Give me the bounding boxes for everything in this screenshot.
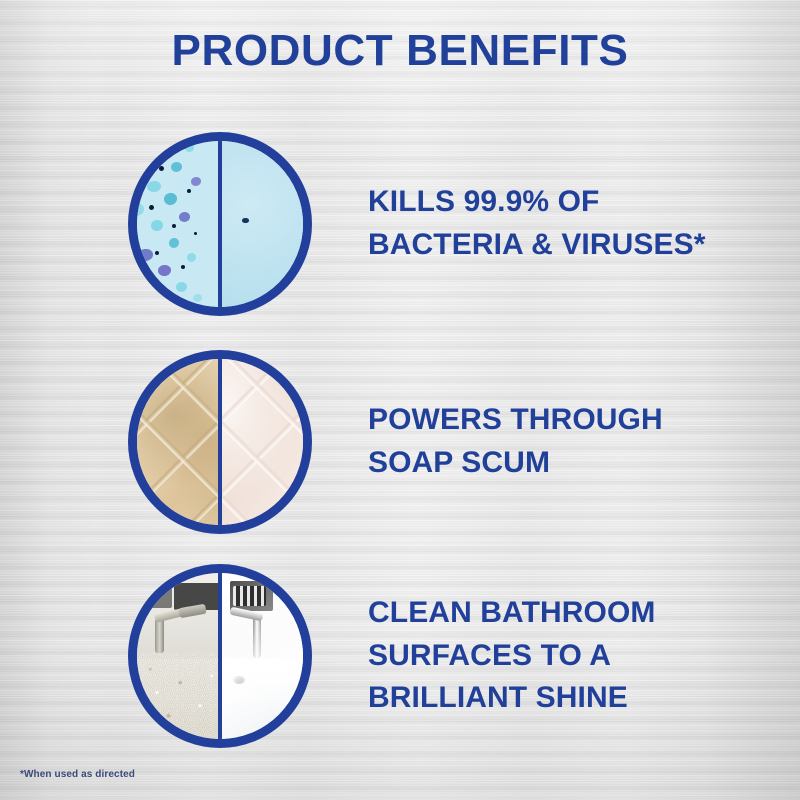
sink-gloss-highlight <box>220 573 303 739</box>
benefit-row-soap-scum: POWERS THROUGH SOAP SCUM <box>0 342 800 542</box>
sink-surface-dull <box>137 573 220 739</box>
benefit-text-brilliant-shine: CLEAN BATHROOM SURFACES TO A BRILLIANT S… <box>368 556 788 756</box>
tile-grout-before-after-circle <box>128 350 312 534</box>
bacteria-clean-half <box>220 141 303 307</box>
page-title: PRODUCT BENEFITS <box>0 26 800 76</box>
bacteria-field-dirty <box>137 141 220 307</box>
benefit-row-brilliant-shine: CLEAN BATHROOM SURFACES TO A BRILLIANT S… <box>0 556 800 756</box>
benefit-line: BRILLIANT SHINE <box>368 677 788 720</box>
sink-shiny-half <box>220 573 303 739</box>
bacteria-dirty-half <box>137 141 220 307</box>
tile-surface-clean <box>220 359 303 525</box>
bathroom-sink-before-after-circle <box>128 564 312 748</box>
footnote-disclaimer: *When used as directed <box>20 769 135 780</box>
benefit-line: BACTERIA & VIRUSES* <box>368 224 788 267</box>
product-benefits-infographic: PRODUCT BENEFITS <box>0 0 800 800</box>
before-after-divider <box>218 573 222 739</box>
benefit-line: SOAP SCUM <box>368 442 788 485</box>
benefit-row-kills-bacteria: KILLS 99.9% OF BACTERIA & VIRUSES* <box>0 124 800 324</box>
benefit-line: KILLS 99.9% OF <box>368 181 788 224</box>
bacteria-field-clean <box>220 141 303 307</box>
water-spots-large <box>137 573 220 739</box>
bacteria-before-after-circle <box>128 132 312 316</box>
benefit-line: SURFACES TO A <box>368 635 788 678</box>
tile-dirty-half <box>137 359 220 525</box>
benefit-line: POWERS THROUGH <box>368 399 788 442</box>
tile-surface-stained <box>137 359 220 525</box>
benefit-line: CLEAN BATHROOM <box>368 592 788 635</box>
sink-surface-shiny <box>220 573 303 739</box>
circle-ring <box>128 132 312 316</box>
tile-clean-half <box>220 359 303 525</box>
sink-dull-half <box>137 573 220 739</box>
circle-ring <box>128 564 312 748</box>
before-after-divider <box>218 359 222 525</box>
circle-ring <box>128 350 312 534</box>
benefit-text-kills-bacteria: KILLS 99.9% OF BACTERIA & VIRUSES* <box>368 124 788 324</box>
residual-speck <box>242 218 249 223</box>
before-after-divider <box>218 141 222 307</box>
benefit-text-soap-scum: POWERS THROUGH SOAP SCUM <box>368 342 788 542</box>
